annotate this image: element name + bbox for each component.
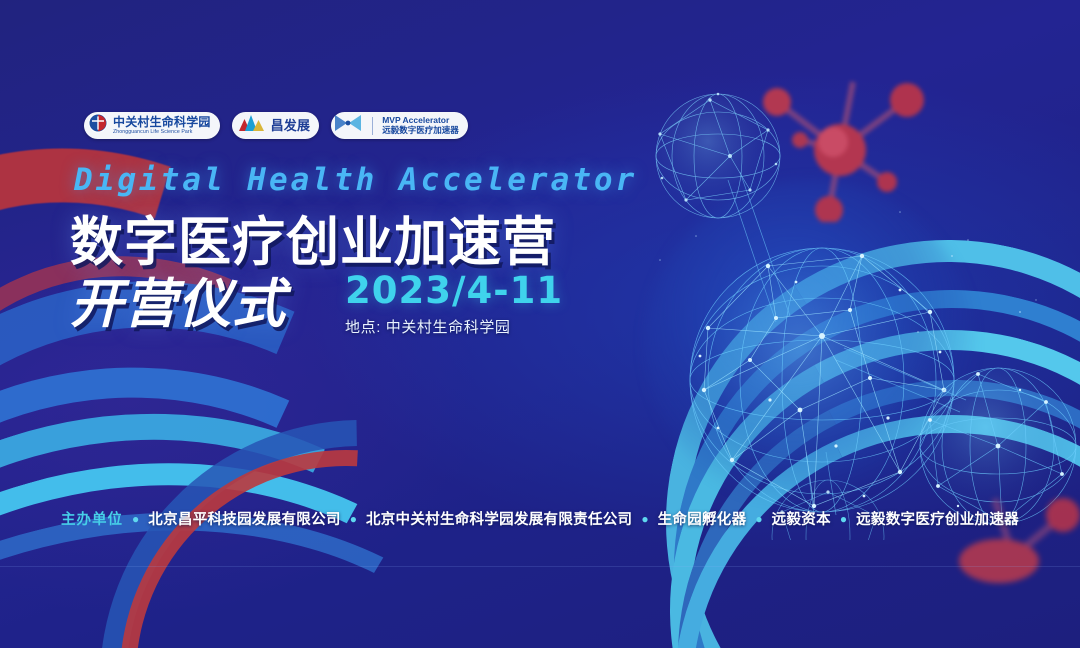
sponsor-item: 北京中关村生命科学园发展有限责任公司 (366, 508, 632, 529)
logo-label-cn: 中关村生命科学园 (113, 116, 211, 128)
sponsor-bullet: ● (755, 512, 762, 526)
logo-label-cn: 昌发展 (271, 119, 311, 132)
sponsor-item: 远毅数字医疗创业加速器 (856, 508, 1019, 529)
logo-mvp-accelerator[interactable]: MVP Accelerator 远毅数字医疗加速器 (331, 112, 468, 139)
logo-divider (372, 117, 373, 135)
sponsor-footer: 主办单位 ● 北京昌平科技园发展有限公司 ● 北京中关村生命科学园发展有限责任公… (0, 508, 1080, 529)
sponsor-item: 远毅资本 (772, 508, 831, 529)
logo-zhongguancun-life-science-park[interactable]: 中关村生命科学园 Zhongguancun Life Science Park (84, 112, 220, 139)
sponsor-bullet: ● (641, 512, 648, 526)
sponsor-item: 北京昌平科技园发展有限公司 (148, 508, 340, 529)
event-date-block: 2023/4-11 地点: 中关村生命科学园 (345, 272, 563, 337)
red-molecule-graphic-top (745, 72, 945, 222)
mountain-triangles-icon (236, 114, 266, 137)
sponsor-logo-row: 中关村生命科学园 Zhongguancun Life Science Park … (84, 112, 468, 139)
logo-label-en: Zhongguancun Life Science Park (113, 130, 211, 135)
logo-label-en: MVP Accelerator (382, 116, 459, 125)
footer-divider (0, 566, 1080, 567)
event-date: 2023/4-11 (345, 272, 563, 309)
title-english: Digital Health Accelerator (74, 162, 637, 198)
sponsor-bullet: ● (350, 512, 357, 526)
sponsor-label: 主办单位 (61, 508, 123, 529)
sponsor-item: 生命园孵化器 (658, 508, 747, 529)
logo-changfazhan[interactable]: 昌发展 (232, 112, 320, 139)
event-poster: 中关村生命科学园 Zhongguancun Life Science Park … (0, 0, 1080, 648)
event-location: 地点: 中关村生命科学园 (345, 316, 563, 337)
bowtie-mvp-icon (333, 112, 363, 139)
sponsor-bullet: ● (840, 512, 847, 526)
logo-label-cn: 远毅数字医疗加速器 (382, 126, 459, 135)
title-chinese-line2: 开营仪式 (70, 262, 286, 338)
globe-cross-icon (88, 113, 108, 138)
sponsor-bullet: ● (132, 512, 139, 526)
